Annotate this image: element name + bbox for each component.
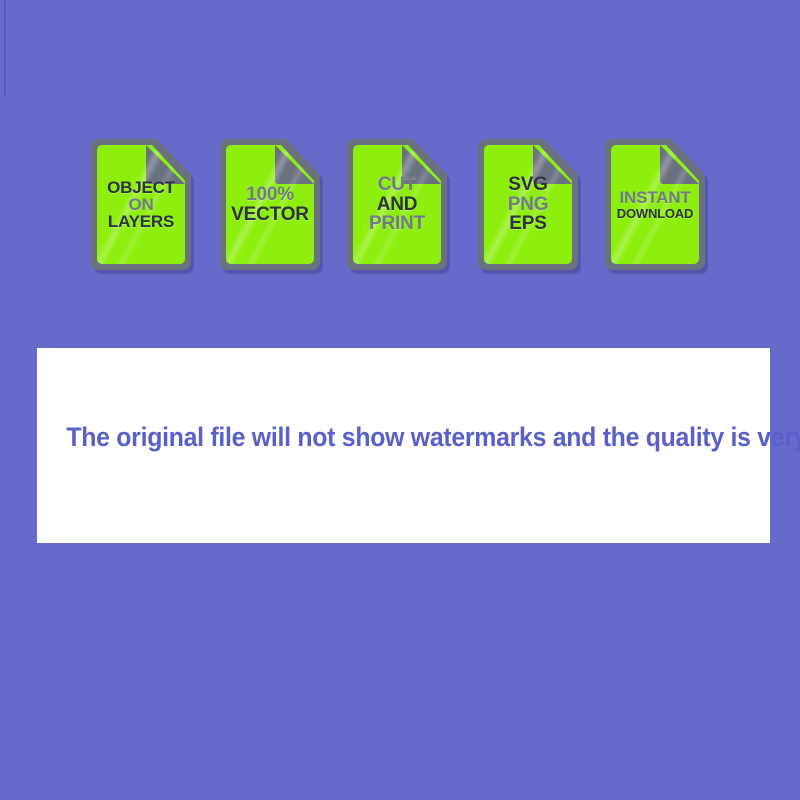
badge-label-line: ON bbox=[128, 196, 153, 213]
badge-label-line: OBJECT bbox=[107, 179, 175, 196]
badge-label-stack: INSTANTDOWNLOAD bbox=[609, 139, 701, 270]
badge-label-stack: CUTANDPRINT bbox=[351, 139, 443, 270]
badge-label-line: EPS bbox=[509, 214, 546, 233]
feature-badge-cut-and-print: CUTANDPRINT bbox=[347, 139, 447, 272]
badge-label-stack: 100%VECTOR bbox=[224, 139, 316, 270]
badge-label-line: 100% bbox=[246, 185, 294, 204]
badge-label-line: PRINT bbox=[369, 214, 425, 233]
notice-box: The original file will not show watermar… bbox=[37, 348, 770, 543]
badge-label-line: SVG bbox=[508, 175, 548, 194]
badge-label-line: CUT bbox=[378, 175, 416, 194]
badge-label-line: INSTANT bbox=[620, 189, 691, 206]
badge-label-line: VECTOR bbox=[231, 205, 309, 224]
badge-label-stack: SVGPNGEPS bbox=[482, 139, 574, 270]
feature-badge-instant-download: INSTANTDOWNLOAD bbox=[605, 139, 705, 272]
badge-label-line: DOWNLOAD bbox=[617, 207, 693, 220]
notice-message: The original file will not show watermar… bbox=[66, 422, 740, 453]
feature-badge-svg-png-eps: SVGPNGEPS bbox=[478, 139, 578, 272]
promo-graphic-canvas: OBJECTONLAYERS100%VECTORCUTANDPRINTSVGPN… bbox=[0, 0, 800, 800]
edge-seam-artifact bbox=[4, 0, 6, 96]
feature-badge-row: OBJECTONLAYERS100%VECTORCUTANDPRINTSVGPN… bbox=[91, 139, 711, 272]
badge-label-line: LAYERS bbox=[108, 213, 174, 230]
badge-label-line: PNG bbox=[508, 195, 549, 214]
badge-label-stack: OBJECTONLAYERS bbox=[95, 139, 187, 270]
badge-label-line: AND bbox=[377, 195, 418, 214]
feature-badge-object-on-layers: OBJECTONLAYERS bbox=[91, 139, 191, 272]
feature-badge-100-percent-vector: 100%VECTOR bbox=[220, 139, 320, 272]
